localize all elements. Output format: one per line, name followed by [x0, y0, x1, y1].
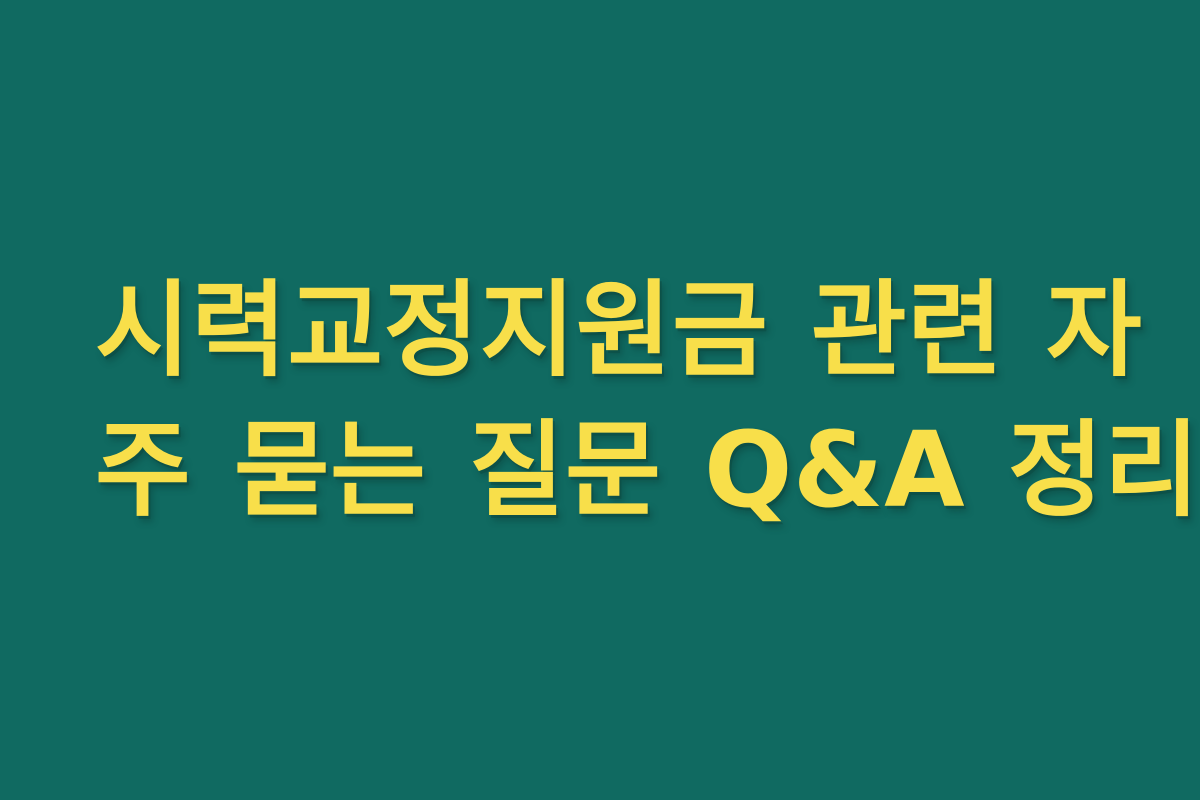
title-line-1: 시력교정지원금 관련 자 — [95, 260, 1105, 400]
page-title: 시력교정지원금 관련 자 주 묻는 질문 Q&A 정리 — [95, 260, 1105, 540]
title-line-2: 주 묻는 질문 Q&A 정리 — [95, 400, 1105, 540]
thumbnail-banner: 시력교정지원금 관련 자 주 묻는 질문 Q&A 정리 — [0, 0, 1200, 800]
